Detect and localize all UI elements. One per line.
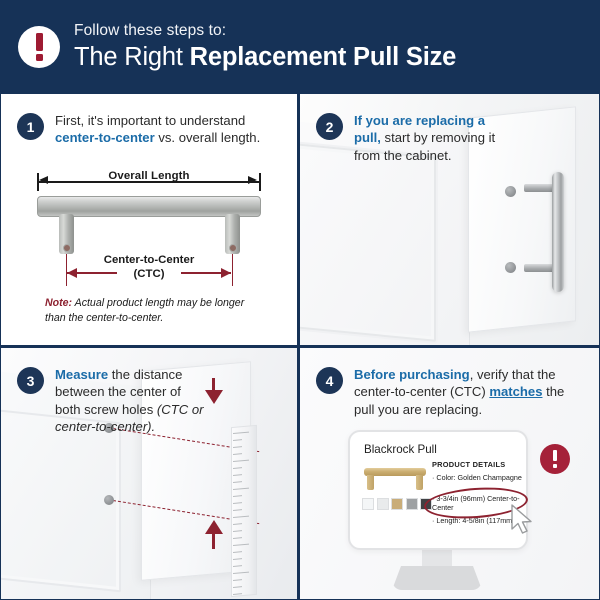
step-panel-3: 3 Measure the distance between the cente…	[1, 348, 297, 599]
ctc-guide-right	[232, 254, 234, 286]
pull-stem-bottom	[524, 264, 554, 272]
step-2-header: 2 If you are replacing a pull, start by …	[300, 94, 599, 164]
infographic-page: Follow these steps to: The Right Replace…	[0, 0, 600, 600]
product-thumbnails[interactable]	[362, 498, 432, 510]
ctc-arrow-right	[221, 268, 231, 278]
product-title: Blackrock Pull	[364, 443, 437, 456]
pull-stem-top	[524, 184, 554, 192]
header-text-block: Follow these steps to: The Right Replace…	[74, 22, 456, 72]
step-1-text: First, it's important to understand cent…	[55, 112, 283, 147]
product-detail-color: · Color: Golden Champagne	[432, 473, 524, 482]
monitor-stand	[392, 566, 482, 590]
step-number-2: 2	[316, 113, 343, 140]
step-4-link[interactable]: matches	[489, 384, 542, 399]
screw-hole-bottom	[505, 262, 516, 273]
pull-post-right	[225, 214, 240, 254]
step-3-part-0: Measure	[55, 367, 108, 382]
ctc-label-line1: Center-to-Center	[1, 254, 297, 266]
diagram-note: Note: Actual product length may be longe…	[45, 296, 260, 326]
ruler-graphic	[231, 425, 257, 597]
thumbnail-2[interactable]	[377, 498, 389, 510]
pull-post-left	[59, 214, 74, 254]
product-details-heading: PRODUCT DETAILS	[432, 460, 505, 469]
step-1-part-0: First, it's important to understand	[55, 113, 245, 128]
overall-length-arrow-right	[248, 176, 257, 184]
page-header: Follow these steps to: The Right Replace…	[0, 0, 600, 93]
steps-grid: 1 First, it's important to understand ce…	[0, 93, 600, 600]
step-panel-1: 1 First, it's important to understand ce…	[1, 94, 297, 345]
diagram-note-text: Actual product length may be longer than…	[45, 297, 244, 324]
ctc-label-line2: (CTC)	[1, 268, 297, 280]
exclamation-circle-icon	[18, 26, 60, 68]
step-number-4: 4	[316, 367, 343, 394]
thumbnail-1[interactable]	[362, 498, 374, 510]
monitor-screen: Blackrock Pull PRODUCT DETAILS · Color: …	[348, 430, 528, 550]
overall-length-line	[37, 181, 261, 183]
step-4-part-0: Before purchasing	[354, 367, 470, 382]
screw-hole-top	[505, 186, 516, 197]
step-1-part-1: center-to-center	[55, 130, 155, 145]
overall-length-arrow-left	[39, 176, 48, 184]
step-number-1: 1	[17, 113, 44, 140]
step-4-header: 4 Before purchasing, verify that the cen…	[300, 348, 599, 418]
step-3-text: Measure the distance between the center …	[55, 366, 207, 436]
thumbnail-4[interactable]	[406, 498, 418, 510]
header-kicker: Follow these steps to:	[74, 22, 456, 40]
screw-hole-lower	[104, 495, 114, 505]
bar-pull-vertical	[552, 172, 564, 292]
step-panel-2: 2 If you are replacing a pull, start by …	[300, 94, 599, 345]
diagram-note-label: Note:	[45, 297, 72, 309]
step-2-text: If you are replacing a pull, start by re…	[354, 112, 504, 164]
exclamation-circle-icon-alert	[540, 444, 570, 474]
pull-measurement-diagram: Overall Length Center-to-Center (CTC)	[1, 166, 297, 345]
measure-arrow-up	[205, 520, 223, 534]
step-panel-4: Blackrock Pull PRODUCT DETAILS · Color: …	[300, 348, 599, 599]
ctc-arrow-left	[67, 268, 77, 278]
step-1-header: 1 First, it's important to understand ce…	[1, 94, 297, 147]
step-1-part-2: vs. overall length.	[155, 130, 261, 145]
step-3-header: 3 Measure the distance between the cente…	[1, 348, 297, 436]
product-image	[364, 465, 426, 491]
step-number-3: 3	[17, 367, 44, 394]
thumbnail-3[interactable]	[391, 498, 403, 510]
page-title: The Right Replacement Pull Size	[74, 43, 456, 72]
page-title-light: The Right	[74, 43, 190, 71]
page-title-bold: Replacement Pull Size	[190, 43, 456, 71]
step-4-text: Before purchasing, verify that the cente…	[354, 366, 569, 418]
